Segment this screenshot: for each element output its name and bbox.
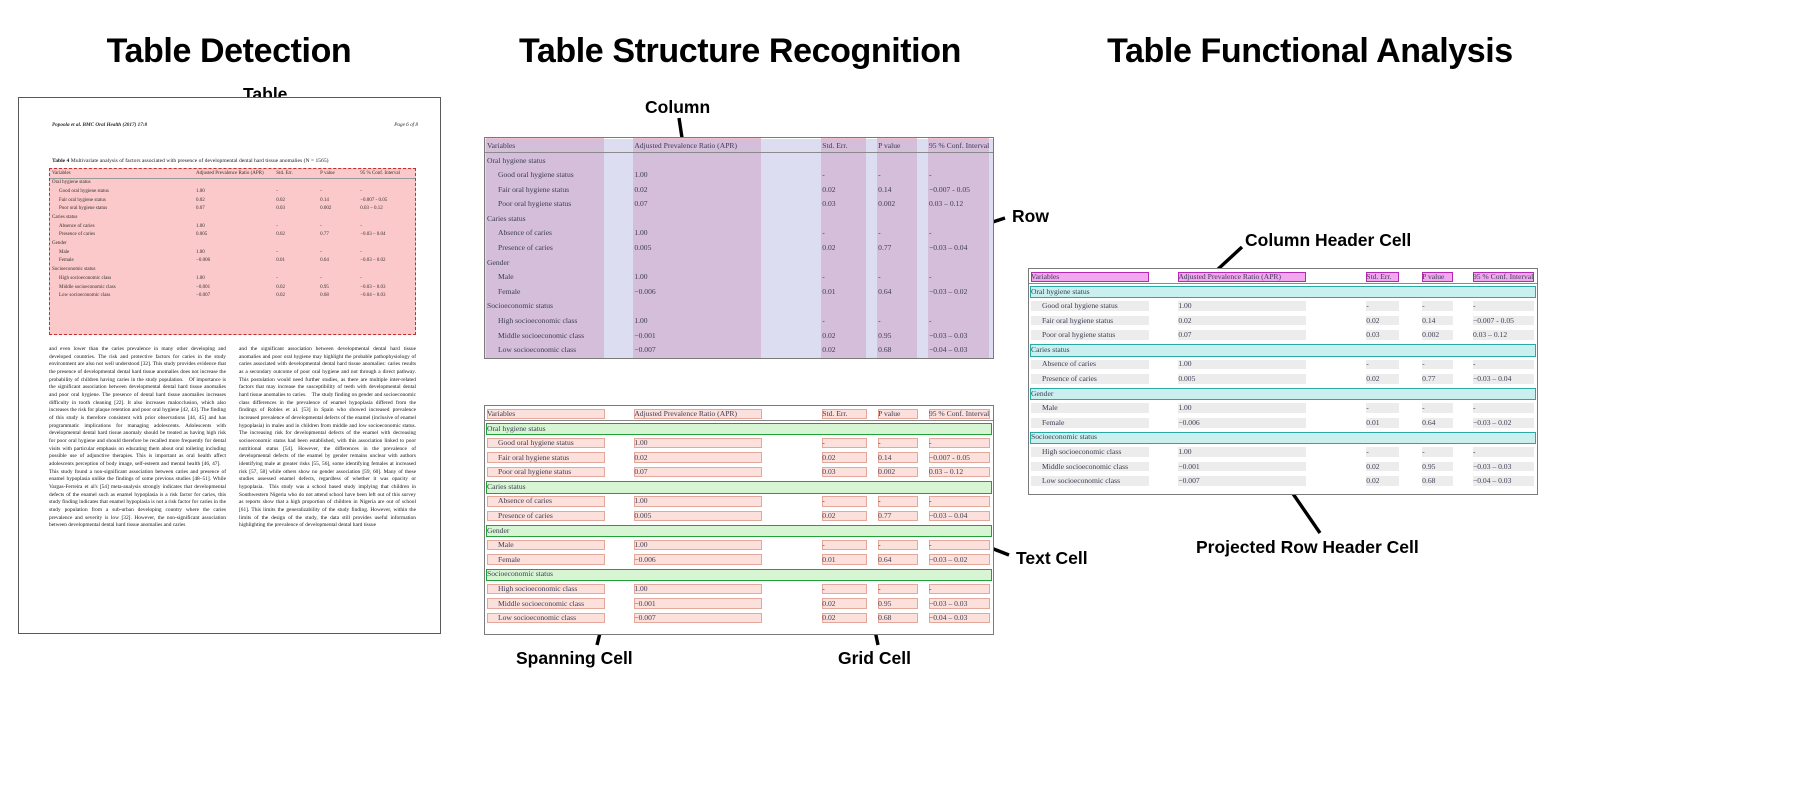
column-header-label: 95 % Conf. Interval <box>1471 272 1535 281</box>
table-cell: 0.64 <box>876 284 927 299</box>
table-cell: Low socioeconomic class <box>1029 473 1176 488</box>
column-header-label: P value <box>876 409 902 418</box>
cell-label: 0.95 <box>876 331 893 340</box>
table-cell: 0.002 <box>320 205 360 214</box>
cell-label: 0.02 <box>1364 462 1381 471</box>
table-cell: 1.00 <box>632 537 820 552</box>
cell-label: 1.00 <box>632 228 649 237</box>
table-row: Good oral hygiene status1.00--- <box>50 187 415 196</box>
cell-label: Middle socioeconomic class <box>1040 462 1130 471</box>
table-cell <box>276 240 320 249</box>
projected-row-header-cell: Oral hygiene status <box>485 421 993 436</box>
table-row: Female−0.0060.010.64−0.03 – 0.02 <box>50 257 415 266</box>
cell-label: 0.02 <box>1364 374 1381 383</box>
table-row: Poor oral hygiene status0.070.030.0020.0… <box>485 196 993 211</box>
table-cell: - <box>1364 400 1420 415</box>
projected-row-header-cell: Socioeconomic status <box>1029 430 1537 445</box>
table-cell: 0.03 – 0.12 <box>927 196 993 211</box>
cell-label: 0.02 <box>1364 476 1381 485</box>
table-row: Male1.00--- <box>50 248 415 257</box>
table-cell: Middle socioeconomic class <box>1029 459 1176 474</box>
table-row: Female−0.0060.010.64−0.03 – 0.02 <box>1029 415 1537 430</box>
table-cell: - <box>820 167 876 182</box>
table-row: Male1.00--- <box>485 269 993 284</box>
projected-row-header-cell: Socioeconomic status <box>485 567 993 582</box>
cell-label: High socioeconomic class <box>496 316 579 325</box>
cell-label: - <box>1420 447 1427 456</box>
projected-row-header-label: Caries status <box>485 214 528 223</box>
table-cell: 1.00 <box>632 313 820 328</box>
cell-label: Male <box>496 272 516 281</box>
table-cell: 0.005 <box>632 508 820 523</box>
table-cell <box>360 266 415 275</box>
cell-label: High socioeconomic class <box>496 584 579 593</box>
table-cell: 0.03 – 0.12 <box>927 464 993 479</box>
table-row: Fair oral hygiene status0.020.020.14−0.0… <box>1029 313 1537 328</box>
table-cell: - <box>1420 444 1471 459</box>
table-cell: 0.02 <box>1364 473 1420 488</box>
cell-label: Presence of caries <box>496 243 555 252</box>
table-cell: 0.14 <box>1420 313 1471 328</box>
functional-analysis-table: VariablesAdjusted Prevalence Ratio (APR)… <box>1028 268 1538 495</box>
table-cell: −0.007 - 0.05 <box>927 450 993 465</box>
column-header-cell: Std. Err. <box>820 406 876 421</box>
table-row: Good oral hygiene status1.00--- <box>485 167 993 182</box>
table-row: VariablesAdjusted Prevalence Ratio (APR)… <box>1029 269 1537 284</box>
column-header-label: Adjusted Prevalence Ratio (APR) <box>632 141 739 150</box>
cell-label: Female <box>496 287 522 296</box>
cell-label: - <box>1364 447 1371 456</box>
column-header-cell: P value <box>320 169 360 178</box>
table-cell: −0.04 – 0.03 <box>927 610 993 625</box>
table-cell: - <box>276 248 320 257</box>
table-cell: - <box>1471 400 1537 415</box>
table-cell: - <box>876 226 927 241</box>
table-row: Low socioeconomic class−0.0070.020.68−0.… <box>485 342 993 357</box>
table-cell: 0.03 – 0.12 <box>1471 327 1537 342</box>
table-cell: 0.02 <box>820 240 876 255</box>
table-cell: −0.001 <box>196 283 276 292</box>
callout-grid-cell: Grid Cell <box>838 648 911 669</box>
cell-label: 0.07 <box>632 467 649 476</box>
cell-label: Absence of caries <box>496 496 554 505</box>
cell-label: 0.005 <box>632 243 653 252</box>
table-cell: - <box>320 274 360 283</box>
cell-label: - <box>876 496 883 505</box>
cell-label: - <box>1364 301 1371 310</box>
structure-table-grid: VariablesAdjusted Prevalence Ratio (APR)… <box>485 138 993 357</box>
column-header-label: P value <box>1420 272 1446 281</box>
cell-label: 1.00 <box>632 584 649 593</box>
cell-label: 0.02 <box>820 511 837 520</box>
table-cell: 0.02 <box>276 283 320 292</box>
cell-label: - <box>820 316 827 325</box>
table-cell: - <box>1364 444 1420 459</box>
cell-label: 1.00 <box>632 540 649 549</box>
table-row: Absence of caries1.00--- <box>50 222 415 231</box>
table-cell: 0.02 <box>276 196 320 205</box>
table-cell: 0.005 <box>1176 371 1364 386</box>
functional-table-grid: VariablesAdjusted Prevalence Ratio (APR)… <box>1029 269 1537 488</box>
table-cell <box>360 240 415 249</box>
cell-label: 0.01 <box>820 287 837 296</box>
column-header-cell: Std. Err. <box>820 138 876 153</box>
cell-label: - <box>820 584 827 593</box>
projected-row-header-cell: Gender <box>1029 386 1537 401</box>
table-cell: −0.007 <box>632 610 820 625</box>
callout-column: Column <box>645 97 710 118</box>
cell-label: Good oral hygiene status <box>1040 301 1120 310</box>
cell-label: −0.001 <box>632 331 657 340</box>
cell-label: −0.007 - 0.05 <box>1471 316 1516 325</box>
cell-label: 0.02 <box>820 453 837 462</box>
table-cell: −0.03 – 0.03 <box>927 328 993 343</box>
table-cell: −0.04 – 0.03 <box>1471 473 1537 488</box>
cell-label: - <box>876 170 883 179</box>
table-cell: 0.02 <box>820 328 876 343</box>
table-cell: Female <box>485 284 632 299</box>
table-row: Gender <box>485 255 993 270</box>
table-cell: - <box>276 222 320 231</box>
cell-label: - <box>820 228 827 237</box>
cell-label: 0.02 <box>632 185 649 194</box>
cell-label: −0.03 – 0.03 <box>927 331 969 340</box>
table-row: Caries status <box>50 213 415 222</box>
table-cell: −0.03 – 0.02 <box>360 257 415 266</box>
table-cell: −0.03 – 0.03 <box>927 596 993 611</box>
cell-label: - <box>876 272 883 281</box>
table-cell: Presence of caries <box>485 240 632 255</box>
cell-label: Low socioeconomic class <box>496 613 578 622</box>
cell-label: −0.007 <box>632 613 657 622</box>
table-cell: 0.02 <box>820 508 876 523</box>
table-cell: −0.03 – 0.02 <box>1471 415 1537 430</box>
table-row: Caries status <box>1029 342 1537 357</box>
table-cell: 0.77 <box>320 231 360 240</box>
callout-text-cell: Text Cell <box>1016 548 1088 569</box>
table-cell: - <box>927 313 993 328</box>
table-row: Middle socioeconomic class−0.0010.020.95… <box>50 283 415 292</box>
table-cell <box>320 266 360 275</box>
table-cell: Fair oral hygiene status <box>1029 313 1176 328</box>
table-cell: 0.02 <box>820 182 876 197</box>
table-cell: −0.007 <box>1176 473 1364 488</box>
paper-table: VariablesAdjusted Prevalence Ratio (APR)… <box>50 169 415 300</box>
cell-label: 0.02 <box>820 185 837 194</box>
cell-label: - <box>1471 447 1478 456</box>
table-row: Middle socioeconomic class−0.0010.020.95… <box>485 328 993 343</box>
cell-label: - <box>820 496 827 505</box>
cell-label: 1.00 <box>632 316 649 325</box>
table-cell: 1.00 <box>632 581 820 596</box>
table-row: Oral hygiene status <box>485 153 993 168</box>
cell-label: Poor oral hygiene status <box>1040 330 1117 339</box>
table-cell <box>276 213 320 222</box>
cell-label: - <box>1420 403 1427 412</box>
table-row: Caries status <box>485 479 993 494</box>
cell-label: 0.02 <box>820 331 837 340</box>
cell-label: - <box>1471 359 1478 368</box>
cell-label: 0.03 <box>1364 330 1381 339</box>
table-cell: −0.001 <box>1176 459 1364 474</box>
table-row: Presence of caries0.0050.020.77−0.03 – 0… <box>1029 371 1537 386</box>
table-cell: Fair oral hygiene status <box>50 196 196 205</box>
column-header-label: Variables <box>485 141 517 150</box>
table-cell: - <box>876 167 927 182</box>
table-caption-text: Multivariate analysis of factors associa… <box>69 158 328 164</box>
table-row: Male1.00--- <box>1029 400 1537 415</box>
table-cell: 0.64 <box>1420 415 1471 430</box>
projected-row-header-label: Gender <box>1029 389 1055 398</box>
table-cell: 0.03 <box>276 205 320 214</box>
table-cell: - <box>320 222 360 231</box>
table-cell: −0.006 <box>1176 415 1364 430</box>
cell-label: - <box>1420 359 1427 368</box>
table-cell: −0.03 – 0.02 <box>927 552 993 567</box>
column-header-label: Std. Err. <box>1364 272 1393 281</box>
table-row: Absence of caries1.00--- <box>1029 357 1537 372</box>
cell-label: 0.68 <box>1420 476 1437 485</box>
table-cell: - <box>1420 357 1471 372</box>
cell-label: −0.006 <box>632 555 657 564</box>
table-row: Gender <box>485 523 993 538</box>
table-row: Presence of caries0.0050.020.77−0.03 – 0… <box>485 508 993 523</box>
table-cell: 0.07 <box>196 205 276 214</box>
table-cell <box>320 240 360 249</box>
table-row: Low socioeconomic class−0.0070.020.68−0.… <box>1029 473 1537 488</box>
cell-label: −0.03 – 0.02 <box>927 555 969 564</box>
table-cell: 0.02 <box>276 231 320 240</box>
column-header-label: 95 % Conf. Interval <box>927 409 991 418</box>
table-cell: - <box>927 435 993 450</box>
column-header-label: Std. Err. <box>820 409 849 418</box>
table-cell: - <box>820 581 876 596</box>
table-cell: −0.001 <box>632 596 820 611</box>
column-header-cell: Std. Err. <box>276 169 320 178</box>
table-cell: 0.95 <box>1420 459 1471 474</box>
cell-label: High socioeconomic class <box>1040 447 1123 456</box>
table-cell: Presence of caries <box>1029 371 1176 386</box>
table-cell: −0.007 <box>196 292 276 301</box>
table-row: Fair oral hygiene status0.020.020.14−0.0… <box>485 182 993 197</box>
table-cell: Female <box>50 257 196 266</box>
cell-label: −0.001 <box>632 599 657 608</box>
table-cell: Low socioeconomic class <box>485 342 632 357</box>
cell-label: 0.02 <box>632 453 649 462</box>
cell-label: 0.02 <box>1364 316 1381 325</box>
table-cell: Female <box>1029 415 1176 430</box>
table-cell: 0.01 <box>820 284 876 299</box>
projected-row-header-label: Gender <box>485 526 511 535</box>
table-cell: - <box>1471 298 1537 313</box>
table-row: Gender <box>1029 386 1537 401</box>
table-cell: −0.03 – 0.04 <box>927 508 993 523</box>
table-cell: High socioeconomic class <box>1029 444 1176 459</box>
table-cell: - <box>276 274 320 283</box>
column-header-cell: 95 % Conf. Interval <box>927 138 993 153</box>
table-cell: −0.03 – 0.04 <box>1471 371 1537 386</box>
table-cell: 1.00 <box>196 187 276 196</box>
cell-label: 0.77 <box>876 511 893 520</box>
table-cell: 0.002 <box>1420 327 1471 342</box>
table-cell: - <box>360 274 415 283</box>
table-cell: Low socioeconomic class <box>50 292 196 301</box>
table-row: Middle socioeconomic class−0.0010.020.95… <box>1029 459 1537 474</box>
table-cell: High socioeconomic class <box>485 581 632 596</box>
cell-label: 0.01 <box>1364 418 1381 427</box>
cell-label: - <box>1471 403 1478 412</box>
table-cell: - <box>360 222 415 231</box>
projected-row-header-cell: Caries status <box>485 479 993 494</box>
cell-label: Good oral hygiene status <box>496 438 576 447</box>
cell-label: - <box>927 584 934 593</box>
table-cell: 0.77 <box>1420 371 1471 386</box>
table-cell: - <box>1471 444 1537 459</box>
cell-label: −0.006 <box>1176 418 1201 427</box>
cell-label: 1.00 <box>632 170 649 179</box>
cell-label: - <box>820 540 827 549</box>
table-row: Caries status <box>485 211 993 226</box>
table-row: Presence of caries0.0050.020.77−0.03 – 0… <box>485 240 993 255</box>
table-cell: 1.00 <box>632 167 820 182</box>
cell-label: Middle socioeconomic class <box>496 599 586 608</box>
table-row: Low socioeconomic class−0.0070.020.68−0.… <box>50 292 415 301</box>
cell-label: 0.03 <box>820 467 837 476</box>
cell-label: 0.14 <box>876 453 893 462</box>
table-cell: Middle socioeconomic class <box>485 596 632 611</box>
table-cell: 0.01 <box>1364 415 1420 430</box>
cell-label: 1.00 <box>1176 359 1193 368</box>
column-header-cell: 95 % Conf. Interval <box>927 406 993 421</box>
table-cell: 0.03 <box>820 464 876 479</box>
table-cell: 0.68 <box>876 610 927 625</box>
table-cell: 0.02 <box>820 596 876 611</box>
table-cell: 0.68 <box>876 342 927 357</box>
table-cell: 0.005 <box>632 240 820 255</box>
table-cell: - <box>876 313 927 328</box>
cell-label: 0.07 <box>1176 330 1193 339</box>
table-row: Middle socioeconomic class−0.0010.020.95… <box>485 596 993 611</box>
table-cell: - <box>1471 357 1537 372</box>
column-header-cell: Variables <box>485 406 632 421</box>
table-cell: −0.03 – 0.02 <box>927 284 993 299</box>
table-cell: 0.03 – 0.12 <box>360 205 415 214</box>
paper-body: and even lower than the caries prevalenc… <box>49 346 416 530</box>
table-cell: 1.00 <box>632 226 820 241</box>
cell-label: - <box>927 438 934 447</box>
column-header-cell: P value <box>876 406 927 421</box>
cell-label: - <box>927 228 934 237</box>
running-head-right: Page 6 of 8 <box>394 122 418 128</box>
table-cell: 0.64 <box>876 552 927 567</box>
cell-label: 0.002 <box>1420 330 1441 339</box>
table-row: Absence of caries1.00--- <box>485 494 993 509</box>
cell-label: −0.03 – 0.04 <box>927 243 969 252</box>
cell-label: 0.03 – 0.12 <box>927 199 965 208</box>
table-cell: - <box>927 494 993 509</box>
table-cell <box>276 178 320 187</box>
table-cell: Good oral hygiene status <box>50 187 196 196</box>
table-row: Good oral hygiene status1.00--- <box>1029 298 1537 313</box>
cell-label: - <box>927 170 934 179</box>
table-cell: 0.005 <box>196 231 276 240</box>
cell-label: −0.006 <box>632 287 657 296</box>
cell-label: - <box>820 272 827 281</box>
cell-label: - <box>1471 301 1478 310</box>
cell-label: −0.001 <box>1176 462 1201 471</box>
table-caption: Table 4 Multivariate analysis of factors… <box>52 158 418 164</box>
table-cell: Presence of caries <box>50 231 196 240</box>
column-header-cell: Adjusted Prevalence Ratio (APR) <box>196 169 276 178</box>
table-cell: 0.07 <box>632 196 820 211</box>
table-cell: - <box>820 537 876 552</box>
column-header-cell: Std. Err. <box>1364 269 1420 284</box>
column-header-cell: 95 % Conf. Interval <box>360 169 415 178</box>
cell-label: 0.95 <box>876 599 893 608</box>
cell-label: - <box>927 496 934 505</box>
table-row: Gender <box>50 240 415 249</box>
cell-label: 1.00 <box>1176 301 1193 310</box>
table-row: Oral hygiene status <box>485 421 993 436</box>
cell-label: - <box>876 228 883 237</box>
table-row: Female−0.0060.010.64−0.03 – 0.02 <box>485 284 993 299</box>
table-cell: Poor oral hygiene status <box>485 464 632 479</box>
table-row: Female−0.0060.010.64−0.03 – 0.02 <box>485 552 993 567</box>
table-cell: 0.14 <box>876 182 927 197</box>
column-header-cell: 95 % Conf. Interval <box>1471 269 1537 284</box>
table-cell: - <box>876 494 927 509</box>
projected-row-header-cell: Caries status <box>485 211 993 226</box>
table-cell: High socioeconomic class <box>485 313 632 328</box>
table-cell: −0.007 - 0.05 <box>927 182 993 197</box>
column-header-cell: Variables <box>485 138 632 153</box>
table-row: Fair oral hygiene status0.020.020.14−0.0… <box>50 196 415 205</box>
table-cell: 1.00 <box>196 248 276 257</box>
projected-row-header-label: Socioeconomic status <box>1029 432 1099 441</box>
column-header-cell: Adjusted Prevalence Ratio (APR) <box>632 138 820 153</box>
table-cell: - <box>927 167 993 182</box>
table-cell <box>360 213 415 222</box>
structure-recognition-table: VariablesAdjusted Prevalence Ratio (APR)… <box>484 137 994 359</box>
table-cell: - <box>927 537 993 552</box>
cell-label: - <box>927 272 934 281</box>
table-cell: 1.00 <box>196 222 276 231</box>
cell-label: 0.02 <box>820 613 837 622</box>
cell-label: −0.04 – 0.03 <box>1471 476 1513 485</box>
table-cell: 0.02 <box>632 182 820 197</box>
table-cell: - <box>320 187 360 196</box>
table-cell: - <box>927 581 993 596</box>
table-cell: - <box>1420 400 1471 415</box>
table-cell: 0.02 <box>1176 313 1364 328</box>
table-row: Presence of caries0.0050.020.77−0.03 – 0… <box>50 231 415 240</box>
cell-recognition-table: VariablesAdjusted Prevalence Ratio (APR)… <box>484 405 994 635</box>
cell-label: 0.14 <box>876 185 893 194</box>
cell-label: Poor oral hygiene status <box>496 467 573 476</box>
cell-label: Low socioeconomic class <box>1040 476 1122 485</box>
cell-label: Presence of caries <box>1040 374 1099 383</box>
running-head-left: Popoola et al. BMC Oral Health (2017) 17… <box>52 122 147 128</box>
cell-label: - <box>927 316 934 325</box>
cell-label: 1.00 <box>632 272 649 281</box>
cell-label: −0.04 – 0.03 <box>927 613 969 622</box>
cell-label: 0.68 <box>876 345 893 354</box>
callout-row: Row <box>1012 206 1049 227</box>
table-cell: - <box>820 269 876 284</box>
table-cell: Good oral hygiene status <box>485 167 632 182</box>
cell-label: −0.007 - 0.05 <box>927 453 972 462</box>
column-header-cell: Adjusted Prevalence Ratio (APR) <box>1176 269 1364 284</box>
